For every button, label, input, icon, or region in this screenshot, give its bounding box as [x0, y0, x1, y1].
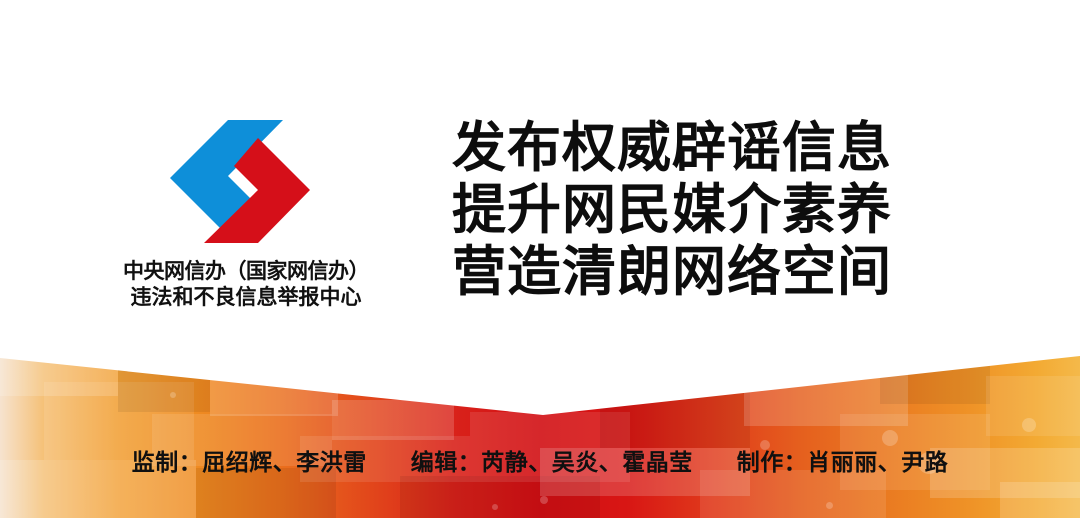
- logo-org-line-2: 违法和不良信息举报中心: [96, 284, 396, 310]
- band-facet: [210, 374, 338, 416]
- band-facet: [118, 352, 210, 412]
- credit-producer: 监制：屈绍辉、李洪雷: [132, 448, 367, 478]
- bottom-color-band: [0, 352, 1080, 519]
- headline-block: 发布权威辟谣信息 提升网民媒介素养 营造清朗网络空间: [452, 116, 952, 302]
- band-bokeh-dot: [1022, 418, 1036, 432]
- headline-line-3: 营造清朗网络空间: [452, 240, 952, 302]
- band-bokeh-dot: [492, 504, 498, 510]
- headline-line-1: 发布权威辟谣信息: [452, 116, 952, 178]
- band-bokeh-dot: [826, 502, 833, 509]
- band-bokeh-dot: [540, 496, 548, 504]
- credit-editor: 编辑：芮静、吴炎、霍晶莹: [411, 448, 693, 478]
- credit-designer: 制作：肖丽丽、尹路: [737, 448, 949, 478]
- headline-line-2: 提升网民媒介素养: [452, 178, 952, 240]
- band-facet: [1000, 482, 1080, 519]
- logo-org-text: 中央网信办（国家网信办） 违法和不良信息举报中心: [96, 258, 396, 310]
- logo-org-line-1: 中央网信办（国家网信办）: [96, 258, 396, 284]
- bottom-white-strip: [0, 518, 1080, 527]
- cyberspace-admin-logo-icon: [168, 118, 316, 250]
- band-bokeh-dot: [170, 392, 176, 398]
- band-facet: [600, 388, 750, 448]
- poster-root: 中央网信办（国家网信办） 违法和不良信息举报中心 发布权威辟谣信息 提升网民媒介…: [0, 0, 1080, 527]
- band-facet: [332, 400, 454, 440]
- band-facet: [880, 352, 990, 404]
- logo-block: 中央网信办（国家网信办） 违法和不良信息举报中心: [96, 118, 396, 318]
- credits-bar: 监制：屈绍辉、李洪雷 编辑：芮静、吴炎、霍晶莹 制作：肖丽丽、尹路: [0, 441, 1080, 485]
